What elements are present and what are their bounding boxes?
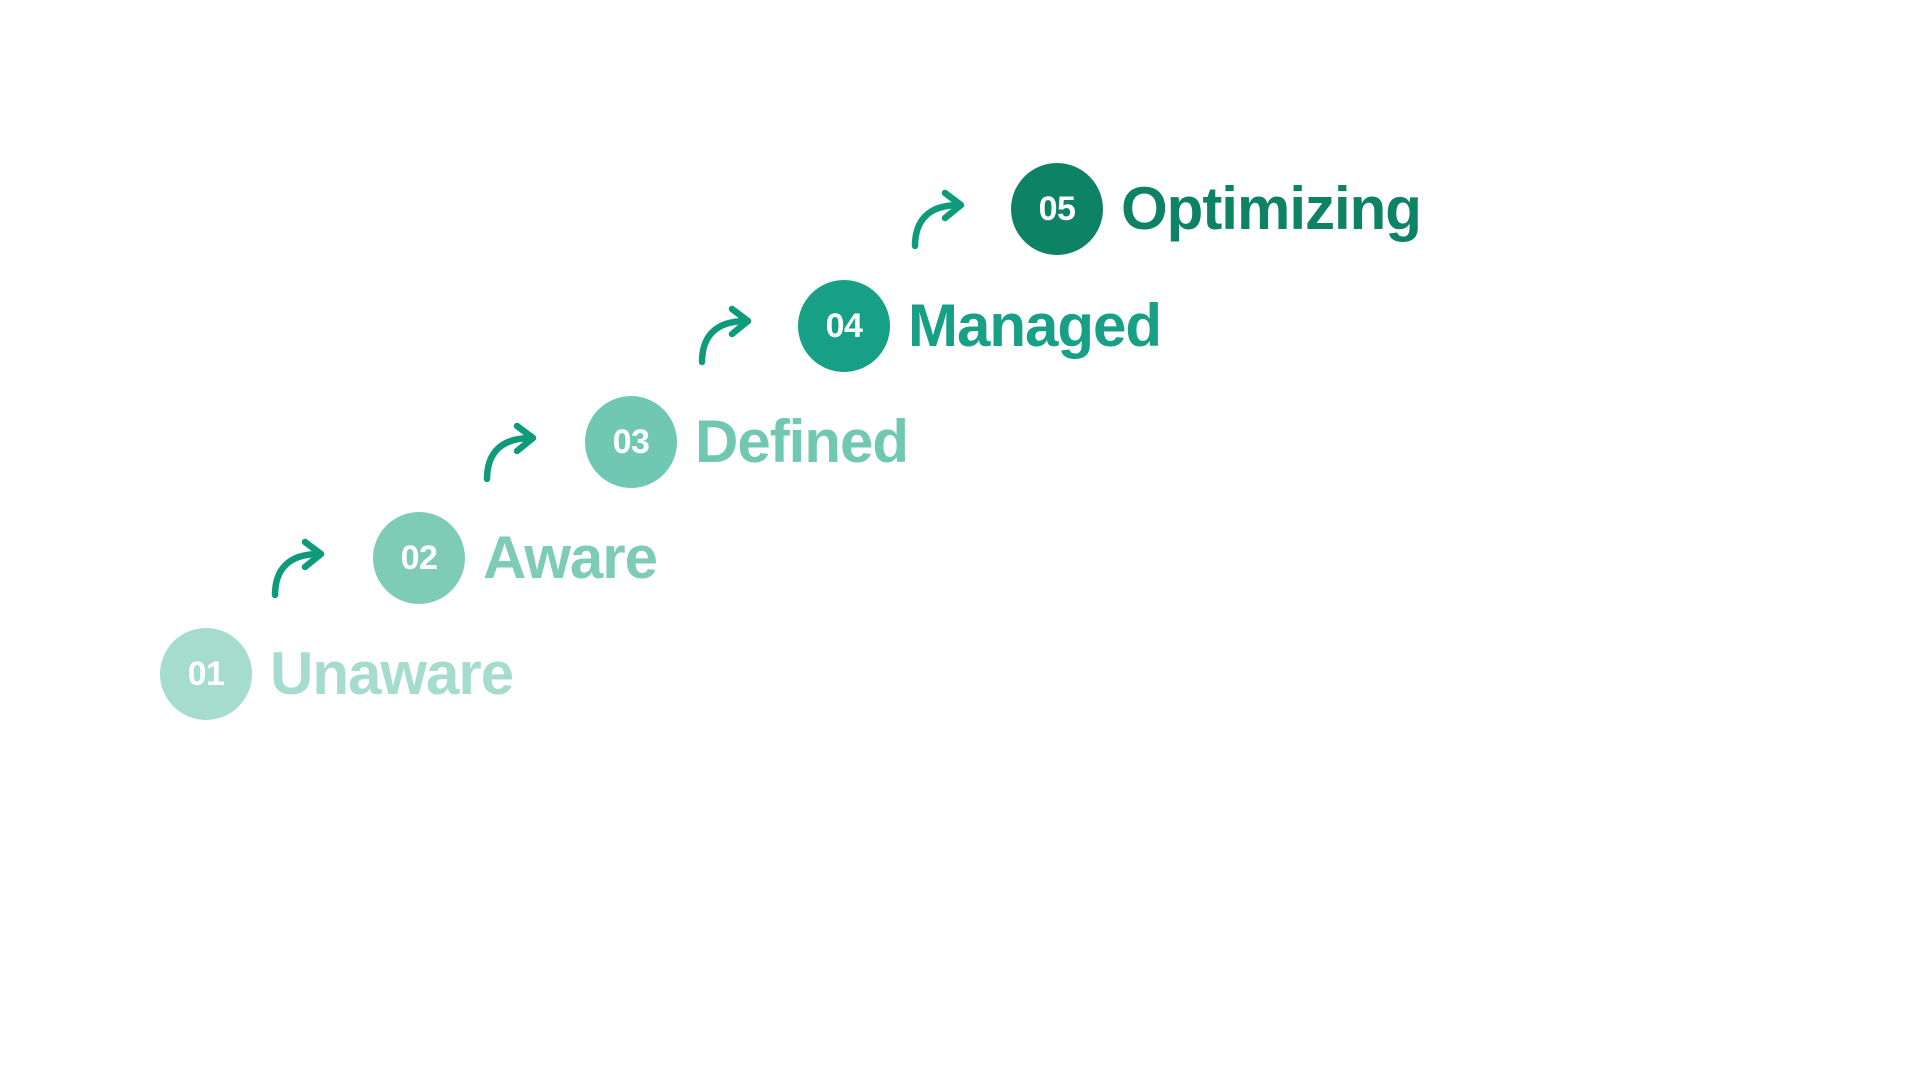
step-badge-02[interactable]: 02 xyxy=(373,512,465,604)
curved-arrow-up-right-icon xyxy=(912,191,974,249)
maturity-step-05[interactable]: 05 Optimizing xyxy=(1011,163,1421,255)
maturity-step-01[interactable]: 01 Unaware xyxy=(160,628,513,720)
step-label-optimizing: Optimizing xyxy=(1121,179,1421,239)
step-label-defined: Defined xyxy=(695,412,908,472)
step-label-managed: Managed xyxy=(908,296,1161,356)
curved-arrow-up-right-icon xyxy=(699,307,761,365)
maturity-step-03[interactable]: 03 Defined xyxy=(585,396,908,488)
curved-arrow-up-right-icon xyxy=(484,424,546,482)
step-badge-03[interactable]: 03 xyxy=(585,396,677,488)
connector-arrow-02-to-03 xyxy=(484,424,546,482)
step-badge-01[interactable]: 01 xyxy=(160,628,252,720)
maturity-staircase-diagram: 01 Unaware 02 Aware 03 Defined 04 Manage… xyxy=(0,0,1921,1081)
step-label-aware: Aware xyxy=(483,528,657,588)
connector-arrow-01-to-02 xyxy=(272,540,334,598)
curved-arrow-up-right-icon xyxy=(272,540,334,598)
step-label-unaware: Unaware xyxy=(270,644,513,704)
maturity-step-02[interactable]: 02 Aware xyxy=(373,512,657,604)
maturity-step-04[interactable]: 04 Managed xyxy=(798,280,1161,372)
step-badge-05[interactable]: 05 xyxy=(1011,163,1103,255)
connector-arrow-04-to-05 xyxy=(912,191,974,249)
connector-arrow-03-to-04 xyxy=(699,307,761,365)
step-badge-04[interactable]: 04 xyxy=(798,280,890,372)
